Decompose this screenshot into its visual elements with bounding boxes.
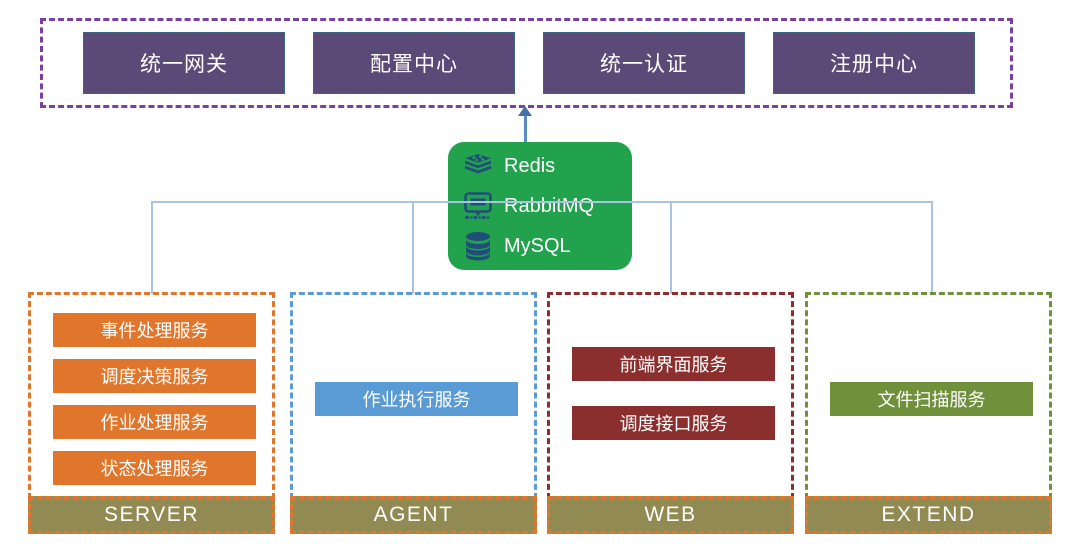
service-label: 事件处理服务 — [101, 317, 209, 343]
service-label: 调度决策服务 — [101, 363, 209, 389]
module-extend: 文件扫描服务 — [805, 292, 1052, 499]
service-box[interactable]: 文件扫描服务 — [830, 382, 1033, 416]
module-agent: 作业执行服务 — [290, 292, 537, 499]
module-web: 前端界面服务 调度接口服务 — [547, 292, 794, 499]
service-label: 文件扫描服务 — [878, 386, 986, 412]
connector-vertical-web — [670, 201, 672, 294]
mysql-icon — [460, 229, 496, 263]
module-footer-server: SERVER — [28, 496, 275, 534]
middleware-label: MySQL — [504, 235, 571, 258]
middleware-label: Redis — [504, 155, 555, 178]
arrow-up-line — [524, 112, 527, 142]
module-footer-web: WEB — [547, 496, 794, 534]
arrow-up-icon — [518, 106, 532, 116]
service-box[interactable]: 事件处理服务 — [53, 313, 256, 347]
service-box[interactable]: 前端界面服务 — [572, 347, 775, 381]
platform-box-registry[interactable]: 注册中心 — [773, 32, 975, 94]
service-label: 作业执行服务 — [363, 386, 471, 412]
module-footer-agent: AGENT — [290, 496, 537, 534]
platform-box-gateway[interactable]: 统一网关 — [83, 32, 285, 94]
service-box[interactable]: 状态处理服务 — [53, 451, 256, 485]
service-label: 状态处理服务 — [101, 455, 209, 481]
module-server: 事件处理服务 调度决策服务 作业处理服务 状态处理服务 — [28, 292, 275, 499]
connector-vertical-extend — [931, 201, 933, 294]
connector-vertical-agent — [412, 201, 414, 294]
module-footer-extend: EXTEND — [805, 496, 1052, 534]
platform-box-label: 配置中心 — [370, 48, 458, 78]
service-label: 调度接口服务 — [620, 410, 728, 436]
connector-vertical-server — [151, 201, 153, 294]
middleware-item-rabbitmq: RabbitMQ — [460, 186, 632, 226]
middleware-label: RabbitMQ — [504, 195, 594, 218]
middleware-box: Redis R — [448, 142, 632, 270]
service-box[interactable]: 调度接口服务 — [572, 406, 775, 440]
service-label: 前端界面服务 — [620, 351, 728, 377]
module-footer-label: EXTEND — [881, 503, 975, 527]
rabbitmq-icon — [460, 189, 496, 223]
platform-box-label: 注册中心 — [830, 48, 918, 78]
platform-box-config-center[interactable]: 配置中心 — [313, 32, 515, 94]
middleware-item-redis: Redis — [460, 146, 632, 186]
platform-box-label: 统一认证 — [600, 48, 688, 78]
connector-horizontal — [151, 201, 933, 203]
module-footer-label: AGENT — [374, 503, 454, 527]
service-box[interactable]: 调度决策服务 — [53, 359, 256, 393]
redis-icon — [460, 149, 496, 183]
platform-box-label: 统一网关 — [140, 48, 228, 78]
architecture-diagram: 统一网关 配置中心 统一认证 注册中心 — [0, 0, 1080, 545]
service-box[interactable]: 作业执行服务 — [315, 382, 518, 416]
platform-box-auth[interactable]: 统一认证 — [543, 32, 745, 94]
service-box[interactable]: 作业处理服务 — [53, 405, 256, 439]
middleware-item-mysql: MySQL — [460, 226, 632, 266]
service-label: 作业处理服务 — [101, 409, 209, 435]
module-footer-label: SERVER — [104, 503, 199, 527]
module-footer-label: WEB — [644, 503, 696, 527]
